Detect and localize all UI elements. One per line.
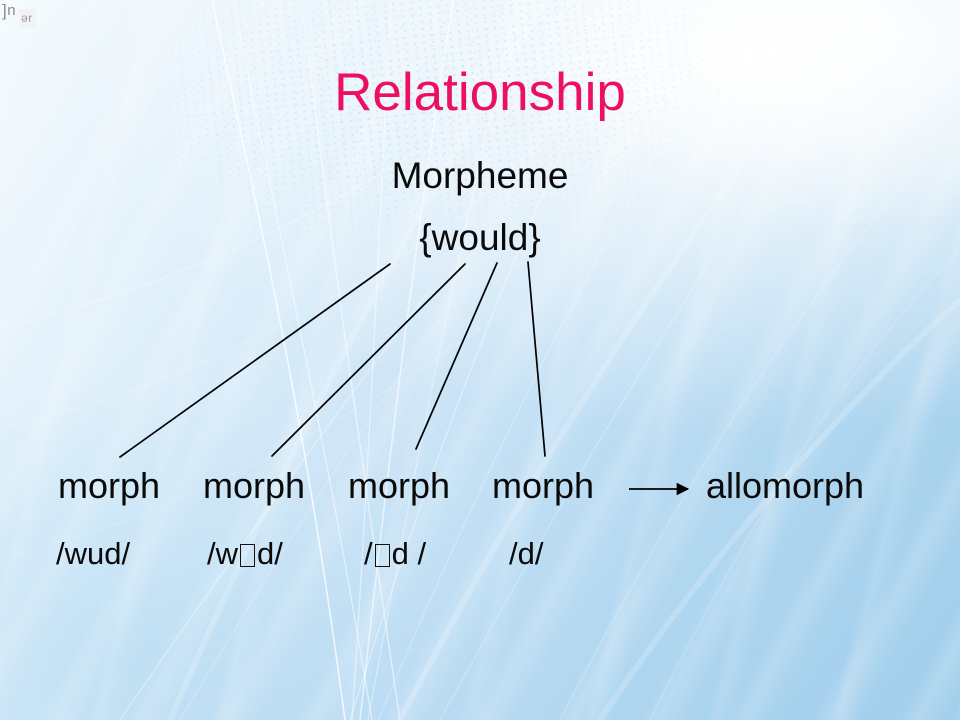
morph-label-4: morph	[492, 465, 594, 507]
transcription-3: /d /	[364, 536, 426, 572]
morpheme-value: {would}	[0, 217, 960, 259]
transcription-1: /wud/	[56, 536, 130, 572]
slide-title: Relationship	[0, 62, 960, 123]
morpheme-level-label: Morpheme	[0, 155, 960, 197]
transcription-row: /wud/ /wd/ /d / /d/	[0, 536, 960, 578]
slide-canvas: ]nər Relationship Morpheme {would} morph…	[0, 0, 960, 720]
transcription-4: /d/	[509, 536, 544, 572]
morph-label-3: morph	[348, 465, 450, 507]
morph-label-1: morph	[58, 465, 160, 507]
allomorph-label: allomorph	[706, 465, 864, 507]
artifact-superscript: n	[7, 2, 16, 19]
missing-glyph-box	[240, 544, 255, 567]
morph-row: morph morph morph morph allomorph	[0, 465, 960, 511]
artifact-boxed-text: ər	[19, 9, 36, 28]
missing-glyph-box	[375, 544, 390, 567]
top-left-text-artifact: ]nər	[2, 2, 36, 19]
morph-label-2: morph	[203, 465, 305, 507]
transcription-2: /wd/	[207, 536, 283, 572]
